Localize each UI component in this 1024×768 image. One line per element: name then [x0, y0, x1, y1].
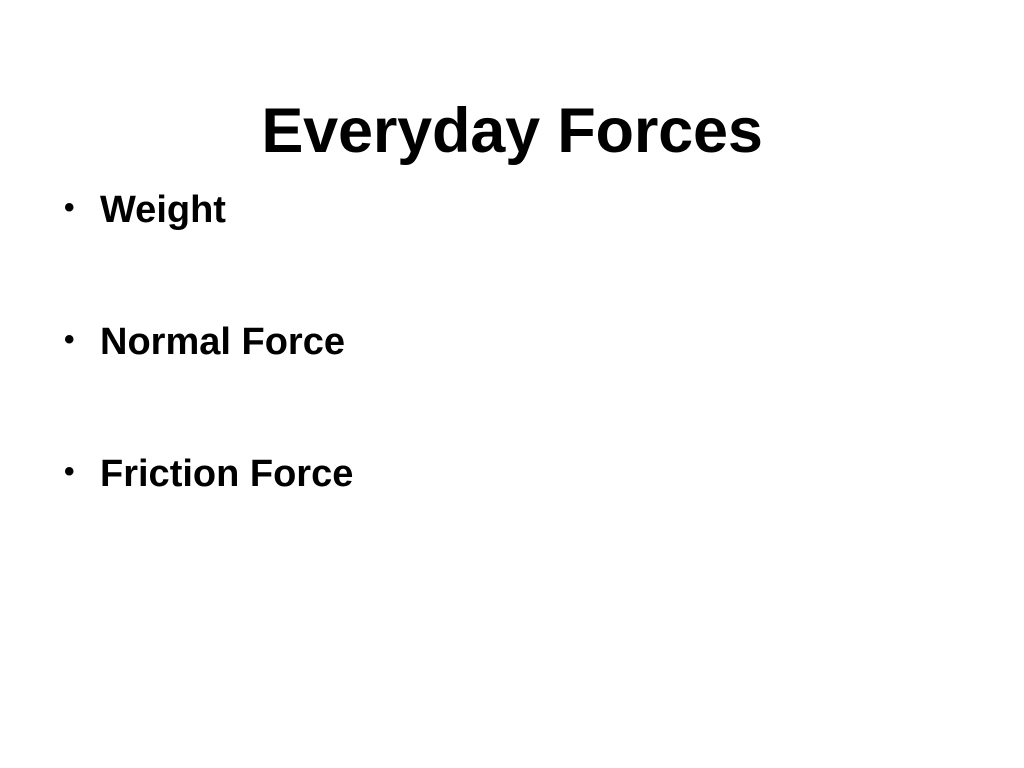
bullet-list: • Weight • Normal Force • Friction Force: [62, 186, 962, 582]
presentation-slide: Everyday Forces • Weight • Normal Force …: [0, 0, 1024, 768]
bullet-point-icon: •: [64, 450, 84, 498]
page-title: Everyday Forces: [0, 100, 1024, 163]
bullet-point-icon: •: [64, 318, 84, 366]
list-item: • Friction Force: [62, 450, 962, 582]
list-item-label: Normal Force: [100, 318, 345, 366]
list-item: • Normal Force: [62, 318, 962, 450]
bullet-point-icon: •: [64, 186, 84, 234]
list-item-label: Friction Force: [100, 450, 353, 498]
list-item: • Weight: [62, 186, 962, 318]
list-item-label: Weight: [100, 186, 226, 234]
